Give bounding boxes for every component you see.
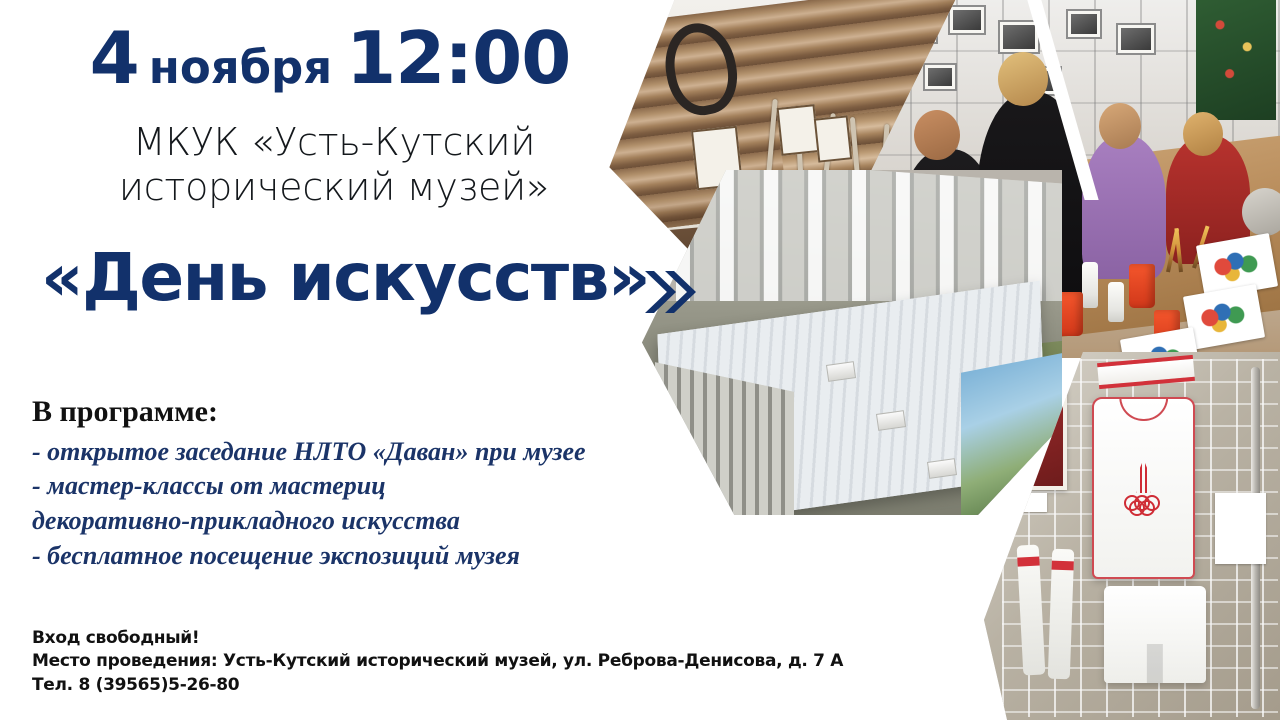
program-block: В программе: - открытое заседание НЛТО «…	[32, 395, 722, 574]
date-time-line: 4ноября12:00	[0, 22, 660, 94]
program-item: - мастер-классы от мастериц	[32, 469, 722, 504]
double-chevron-right-icon	[641, 265, 701, 319]
venue-address: Место проведения: Усть-Кутский историчес…	[32, 650, 772, 673]
organization-line-1: МКУК «Усть-Кутский	[0, 120, 668, 165]
event-month: ноября	[139, 41, 346, 94]
event-time: 12:00	[346, 16, 570, 100]
organization-name: МКУК «Усть-Кутский исторический музей»	[0, 120, 668, 210]
program-list: - открытое заседание НЛТО «Даван» при му…	[32, 435, 722, 574]
footer-block: Вход свободный! Место проведения: Усть-К…	[32, 627, 772, 697]
program-item: - бесплатное посещение экспозиций музея	[32, 539, 722, 574]
event-title: «День искусств»	[0, 243, 690, 312]
event-day: 4	[90, 16, 139, 100]
photo-collage	[620, 0, 1280, 720]
text-column: 4ноября12:00 МКУК «Усть-Кутский историче…	[0, 0, 690, 720]
organization-line-2: исторический музей»	[0, 165, 668, 210]
program-item: - открытое заседание НЛТО «Даван» при му…	[32, 435, 722, 470]
program-item-continuation: декоративно-прикладного искусства	[32, 504, 722, 539]
program-heading: В программе:	[32, 395, 722, 430]
poster-root: 4ноября12:00 МКУК «Усть-Кутский историче…	[0, 0, 1280, 720]
contact-phone: Тел. 8 (39565)5-26-80	[32, 674, 772, 697]
admission-note: Вход свободный!	[32, 627, 772, 650]
olympic-80-emblem-icon	[1123, 459, 1165, 513]
